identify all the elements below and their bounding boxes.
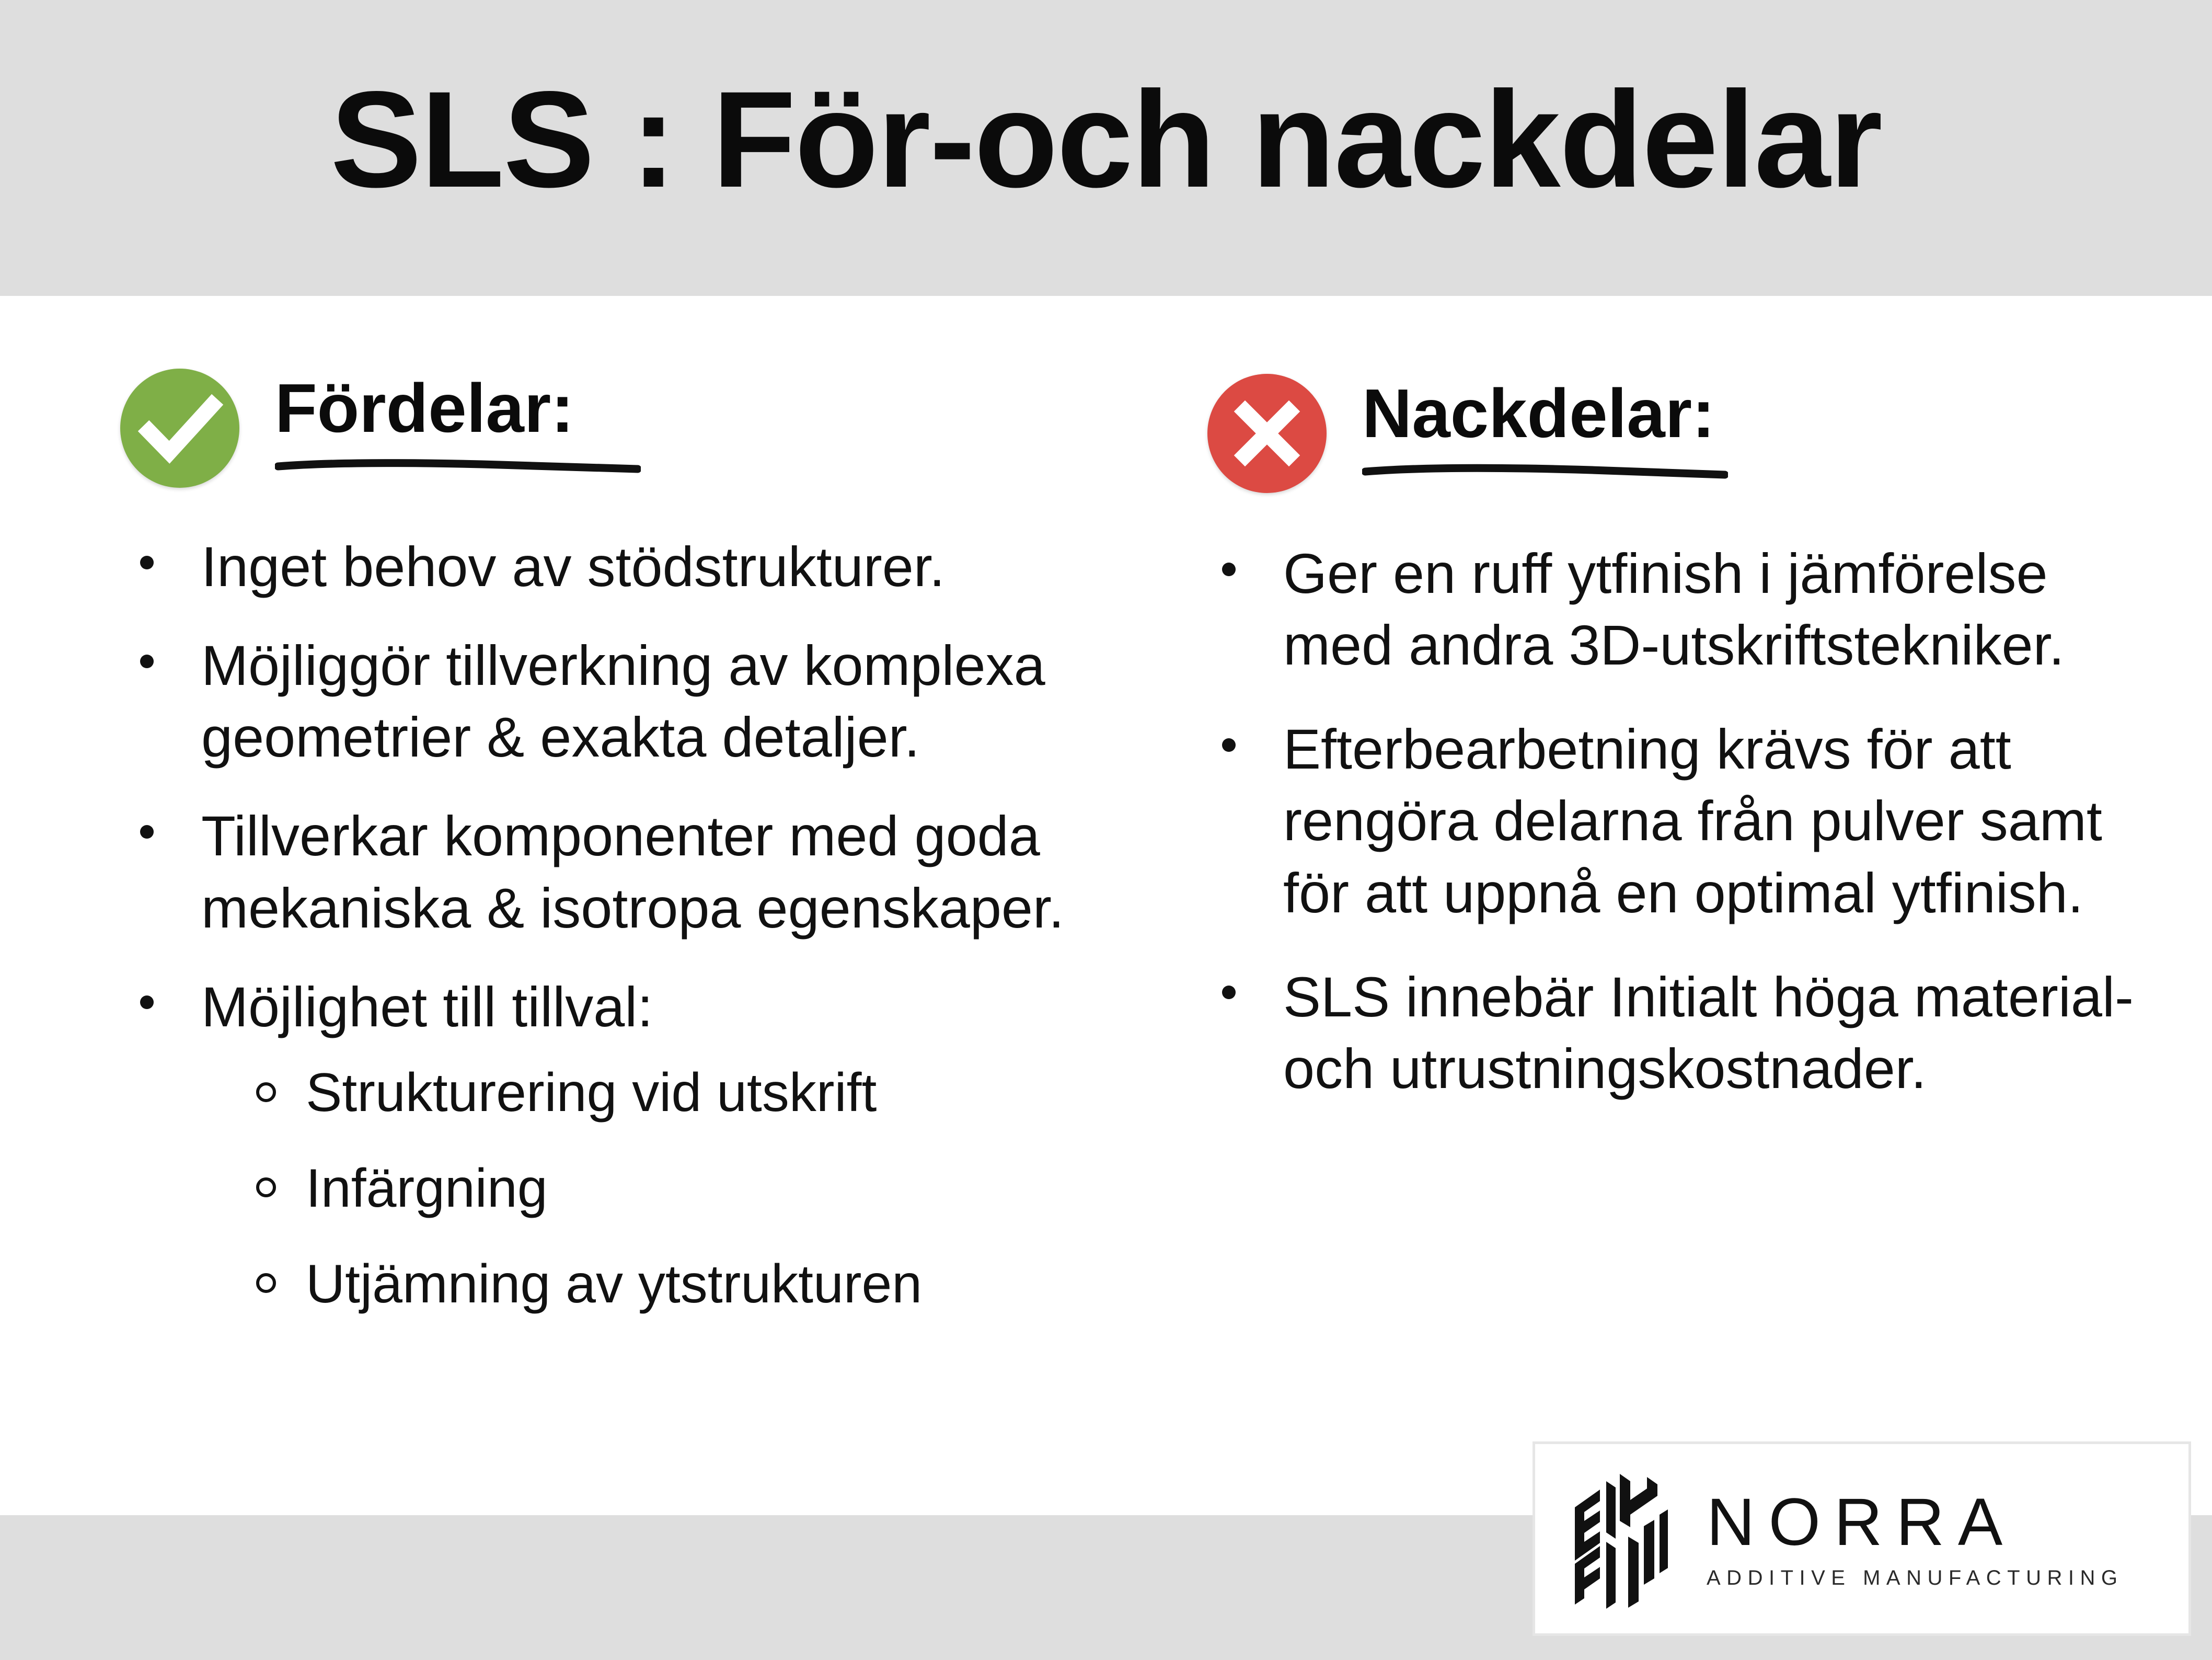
cons-list: Ger en ruff ytfinish i jämförelse med an…	[1202, 537, 2143, 1137]
logo-name: NORRA	[1707, 1489, 2123, 1556]
list-item-text: Möjlighet till tillval:	[201, 975, 653, 1038]
pros-heading-group: Fördelar:	[120, 369, 641, 488]
company-logo: NORRA ADDITIVE MANUFACTURING	[1533, 1441, 2191, 1636]
sub-list-item-text: Infärgning	[306, 1158, 548, 1219]
sub-list-item: Infärgning	[240, 1156, 1160, 1221]
cons-heading-wrap: Nackdelar:	[1362, 379, 1728, 488]
pros-heading-wrap: Fördelar:	[275, 374, 641, 483]
logo-wordmark: NORRA ADDITIVE MANUFACTURING	[1707, 1489, 2123, 1588]
bullet-dot-icon	[1222, 563, 1236, 576]
cons-heading-underline	[1362, 462, 1728, 479]
cons-heading: Nackdelar:	[1362, 379, 1728, 448]
list-item: Möjliggör tillverkning av komplexa geome…	[120, 629, 1160, 773]
sub-list-item: Strukturering vid utskrift	[240, 1060, 1160, 1126]
pros-heading-underline	[275, 456, 641, 474]
bullet-dot-icon	[140, 995, 154, 1009]
list-item-text: SLS innebär Initialt höga material- och …	[1283, 965, 2134, 1100]
list-item-text: Efterbearbetning krävs för att rengöra d…	[1283, 717, 2102, 924]
list-item: Tillverkar komponenter med goda mekanisk…	[120, 800, 1160, 943]
list-item-text: Möjliggör tillverkning av komplexa geome…	[201, 634, 1045, 769]
norra-cube-monogram-icon	[1565, 1469, 1676, 1609]
page-title: SLS : För-och nackdelar	[0, 66, 2212, 214]
bullet-circle-icon	[256, 1273, 276, 1293]
bullet-dot-icon	[140, 825, 154, 839]
check-circle-icon	[120, 369, 239, 488]
bullet-circle-icon	[256, 1082, 276, 1102]
list-item: SLS innebär Initialt höga material- och …	[1202, 961, 2143, 1104]
sub-list-item: Utjämning av ytstrukturen	[240, 1252, 1160, 1317]
list-item-text: Tillverkar komponenter med goda mekanisk…	[201, 804, 1064, 939]
bullet-dot-icon	[140, 655, 154, 668]
list-item: Möjlighet till tillval: Strukturering vi…	[120, 971, 1160, 1317]
sub-list-item-text: Strukturering vid utskrift	[306, 1062, 877, 1123]
slide-canvas: SLS : För-och nackdelar Fördelar: Inget …	[0, 0, 2212, 1660]
bullet-circle-icon	[256, 1177, 276, 1197]
list-item-text: Inget behov av stödstrukturer.	[201, 535, 945, 598]
list-item-text: Ger en ruff ytfinish i jämförelse med an…	[1283, 542, 2065, 677]
bullet-dot-icon	[140, 556, 154, 569]
bullet-dot-icon	[1222, 738, 1236, 752]
cons-heading-group: Nackdelar:	[1207, 374, 1728, 493]
pros-sublist: Strukturering vid utskrift Infärgning Ut…	[201, 1060, 1160, 1316]
x-circle-icon	[1207, 374, 1327, 493]
pros-list: Inget behov av stödstrukturer. Möjliggör…	[120, 531, 1160, 1347]
bullet-dot-icon	[1222, 986, 1236, 999]
pros-heading: Fördelar:	[275, 374, 641, 443]
sub-list-item-text: Utjämning av ytstrukturen	[306, 1254, 922, 1314]
logo-tagline: ADDITIVE MANUFACTURING	[1707, 1567, 2123, 1588]
list-item: Efterbearbetning krävs för att rengöra d…	[1202, 713, 2143, 928]
list-item: Ger en ruff ytfinish i jämförelse med an…	[1202, 537, 2143, 681]
list-item: Inget behov av stödstrukturer.	[120, 531, 1160, 602]
